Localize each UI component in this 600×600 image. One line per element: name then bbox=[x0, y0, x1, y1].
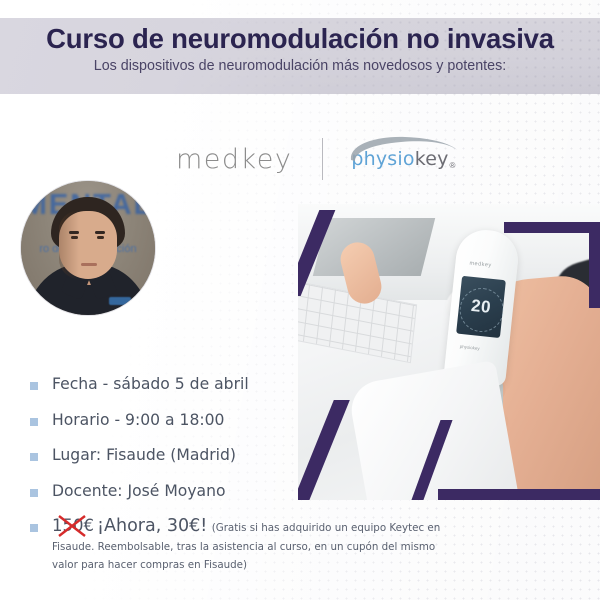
list-item: Fecha - sábado 5 de abril bbox=[30, 374, 460, 395]
list-item: Docente: José Moyano bbox=[30, 481, 460, 502]
medkey-logo: medkey bbox=[176, 144, 292, 175]
course-details-list: Fecha - sábado 5 de abril Horario - 9:00… bbox=[30, 374, 460, 574]
detail-instructor: Docente: José Moyano bbox=[52, 481, 226, 502]
detail-date: Fecha - sábado 5 de abril bbox=[52, 374, 249, 395]
physiokey-key-text: key bbox=[415, 148, 449, 170]
device-sub-label: physiokey bbox=[459, 344, 479, 351]
portrait-mouth bbox=[81, 263, 97, 266]
detail-schedule: Horario - 9:00 a 18:00 bbox=[52, 410, 224, 431]
physiokey-logo: physiokey® bbox=[351, 148, 455, 170]
trademark-icon: ® bbox=[450, 161, 456, 170]
detail-location: Lugar: Fisaude (Madrid) bbox=[52, 445, 236, 466]
header-band: Curso de neuromodulación no invasiva Los… bbox=[0, 18, 600, 94]
portrait-shirt-badge bbox=[109, 297, 131, 305]
bullet-square-icon bbox=[30, 418, 38, 426]
old-price: 150€ bbox=[52, 516, 94, 535]
price-item: 150€ ¡Ahora, 30€! (Gratis si has adquiri… bbox=[30, 516, 460, 573]
device-brand-label: medkey bbox=[469, 260, 492, 268]
bullet-square-icon bbox=[30, 524, 38, 532]
brand-logos: medkey physiokey® bbox=[176, 135, 466, 183]
portrait-eye-right bbox=[97, 236, 104, 239]
instructor-portrait: MENTAL ro de Rehabilitación bbox=[21, 181, 155, 315]
old-price-value: 150€ bbox=[52, 516, 94, 535]
list-item: Lugar: Fisaude (Madrid) bbox=[30, 445, 460, 466]
page-title: Curso de neuromodulación no invasiva bbox=[0, 18, 600, 55]
promo-poster: Curso de neuromodulación no invasiva Los… bbox=[0, 0, 600, 600]
logo-divider bbox=[322, 138, 323, 180]
list-item: Horario - 9:00 a 18:00 bbox=[30, 410, 460, 431]
physiokey-physio-text: physio bbox=[351, 148, 414, 170]
new-price: ¡Ahora, 30€! bbox=[97, 516, 207, 536]
portrait-face-shadow bbox=[59, 211, 79, 279]
page-subtitle: Los dispositivos de neuromodulación más … bbox=[0, 58, 600, 75]
portrait-brow-right bbox=[95, 231, 105, 234]
bullet-square-icon bbox=[30, 453, 38, 461]
portrait-eye-left bbox=[71, 236, 78, 239]
bullet-square-icon bbox=[30, 382, 38, 390]
portrait-brow-left bbox=[69, 231, 79, 234]
bullet-square-icon bbox=[30, 489, 38, 497]
